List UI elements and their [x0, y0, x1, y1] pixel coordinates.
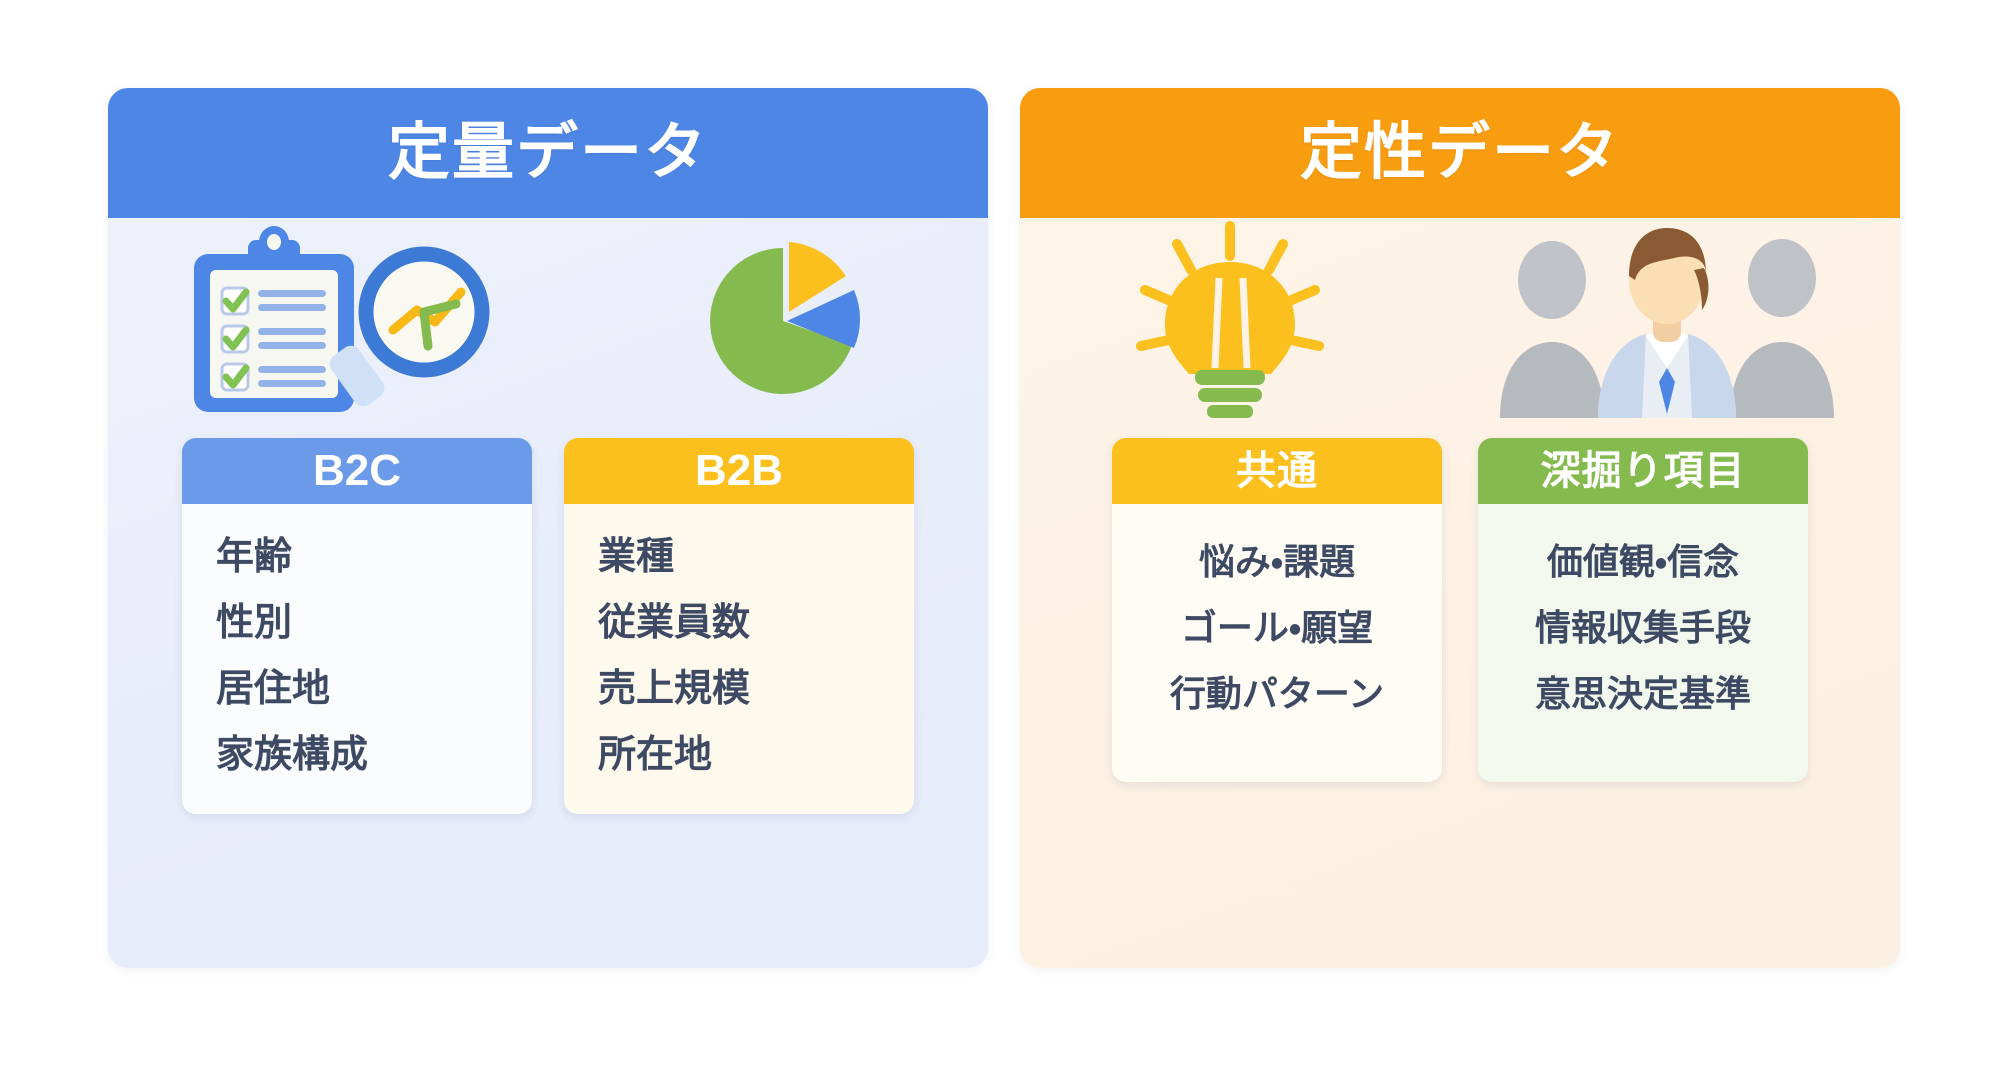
list-item: 売上規模	[564, 670, 914, 708]
list-b2c: 年齢 性別 居住地 家族構成	[182, 538, 532, 774]
list-item: 従業員数	[564, 604, 914, 642]
subcard-header-b2c: B2C	[182, 438, 532, 504]
illustration-band-qualitative	[1020, 218, 1900, 438]
list-item: 性別	[182, 604, 532, 642]
subcard-title-common: 共通	[1236, 451, 1318, 491]
subcard-b2c[interactable]: B2C 年齢 性別 居住地 家族構成	[182, 438, 532, 814]
subcard-header-b2b: B2B	[564, 438, 914, 504]
subcard-b2b[interactable]: B2B 業種 従業員数 売上規模 所在地	[564, 438, 914, 814]
lightbulb-icon	[1115, 218, 1345, 423]
subcard-deep-dive[interactable]: 深掘り項目 価値観・信念 情報収集手段 意思決定基準	[1478, 438, 1808, 782]
list-deep-dive: 価値観・信念 情報収集手段 意思決定基準	[1478, 544, 1808, 712]
list-item: 業種	[564, 538, 914, 576]
illustration-band-quantitative	[108, 218, 988, 438]
subcard-body-b2c: 年齢 性別 居住地 家族構成	[182, 504, 532, 814]
panel-title-qualitative: 定性データ	[1300, 122, 1620, 184]
list-item: 価値観・信念	[1478, 544, 1808, 580]
pie-chart-icon	[688, 226, 878, 411]
panel-header-qualitative: 定性データ	[1020, 88, 1900, 218]
subcard-header-deep-dive: 深掘り項目	[1478, 438, 1808, 504]
list-item: 居住地	[182, 670, 532, 708]
subcard-body-common: 悩み・課題 ゴール・願望 行動パターン	[1112, 504, 1442, 782]
list-item: ゴール・願望	[1112, 610, 1442, 646]
clipboard-checklist-icon	[188, 226, 518, 421]
subcard-common[interactable]: 共通 悩み・課題 ゴール・願望 行動パターン	[1112, 438, 1442, 782]
list-common: 悩み・課題 ゴール・願望 行動パターン	[1112, 544, 1442, 712]
list-item: 年齢	[182, 538, 532, 576]
panel-header-quantitative: 定量データ	[108, 88, 988, 218]
subcard-header-common: 共通	[1112, 438, 1442, 504]
list-item: 悩み・課題	[1112, 544, 1442, 580]
panel-qualitative: 定性データ	[1020, 88, 1900, 968]
people-group-icon	[1490, 218, 1840, 423]
subcard-title-b2c: B2C	[313, 449, 401, 493]
list-item: 家族構成	[182, 736, 532, 774]
panel-title-quantitative: 定量データ	[388, 122, 708, 184]
panel-quantitative: 定量データ	[108, 88, 988, 968]
list-item: 意思決定基準	[1478, 676, 1808, 712]
list-item: 所在地	[564, 736, 914, 774]
list-item: 行動パターン	[1112, 676, 1442, 712]
subcard-row-qualitative: 共通 悩み・課題 ゴール・願望 行動パターン 深掘り項目 価値観・信念	[1020, 438, 1900, 782]
subcard-title-b2b: B2B	[695, 449, 783, 493]
infographic-canvas: 定量データ	[0, 0, 2000, 1083]
subcard-row-quantitative: B2C 年齢 性別 居住地 家族構成 B2B 業種	[108, 438, 988, 814]
subcard-body-deep-dive: 価値観・信念 情報収集手段 意思決定基準	[1478, 504, 1808, 782]
list-item: 情報収集手段	[1478, 610, 1808, 646]
subcard-title-deep-dive: 深掘り項目	[1541, 451, 1746, 491]
list-b2b: 業種 従業員数 売上規模 所在地	[564, 538, 914, 774]
subcard-body-b2b: 業種 従業員数 売上規模 所在地	[564, 504, 914, 814]
